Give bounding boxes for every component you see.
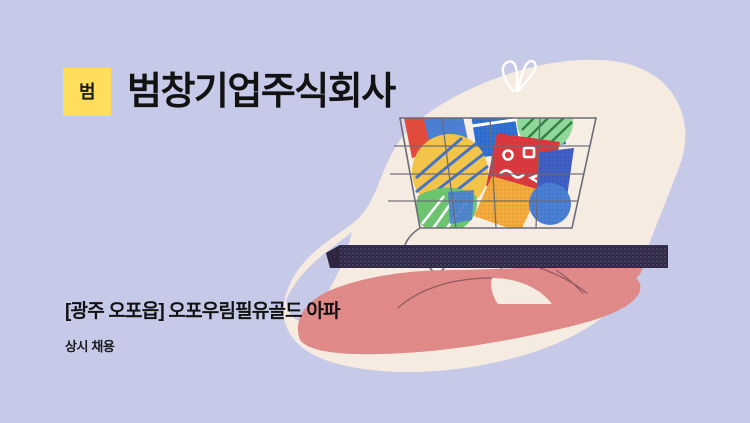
job-status-badge: 상시 채용 (65, 339, 340, 356)
job-title: [광주 오포읍] 오포우림필유골드 아파 (65, 300, 340, 325)
hand-illustration (298, 258, 642, 355)
company-logo-badge: 범 (63, 68, 111, 116)
item-green-leaf-shape (414, 188, 477, 233)
item-blue-speckled-shape (536, 148, 574, 204)
cart-grid-horizontal (388, 146, 590, 201)
company-name: 범창기업주식회사 (127, 73, 395, 111)
item-blue-circle (529, 183, 571, 225)
item-red-shape (404, 114, 446, 158)
item-orange-diamond (474, 176, 540, 232)
cart-contents (404, 84, 574, 233)
cart-handle-bar-edge (326, 245, 340, 268)
job-posting-banner: 범 범창기업주식회사 [광주 오포읍] 오포우림필유골드 아파 상시 채용 (0, 0, 750, 423)
job-info-block: [광주 오포읍] 오포우림필유골드 아파 상시 채용 (65, 300, 340, 356)
illustration-hand-holding-shopping-cart (0, 0, 750, 423)
item-yellow-striped-circle (412, 134, 488, 210)
company-header: 범 범창기업주식회사 (63, 68, 395, 116)
cart-base-curve (403, 228, 566, 264)
item-red-squiggle-shape (486, 133, 560, 196)
cart-grid-vertical (442, 118, 540, 228)
banner-background (0, 0, 750, 423)
cart-wheel-right (500, 256, 516, 272)
item-blue-patch (448, 190, 474, 224)
gift-bow-icon (503, 61, 536, 92)
item-blue-shape (424, 112, 470, 160)
item-blue-gift-box (468, 84, 566, 158)
cart-wheel-left (429, 256, 445, 272)
cart-handle-bar (326, 245, 668, 268)
item-green-striped-circle (517, 94, 573, 150)
cart-basket-fill (400, 118, 596, 228)
cart-outline (400, 118, 596, 228)
